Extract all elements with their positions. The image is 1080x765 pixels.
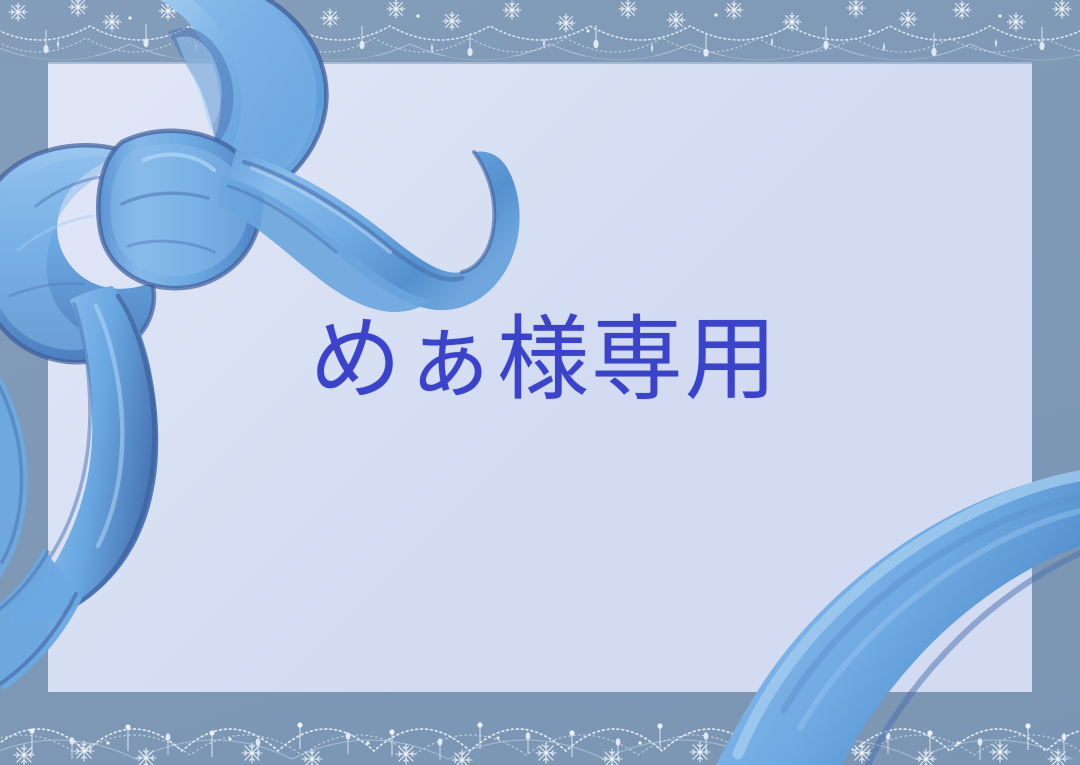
page-title: めぁ様専用 [0, 312, 1080, 409]
banner-canvas: めぁ様専用 [0, 0, 1080, 765]
